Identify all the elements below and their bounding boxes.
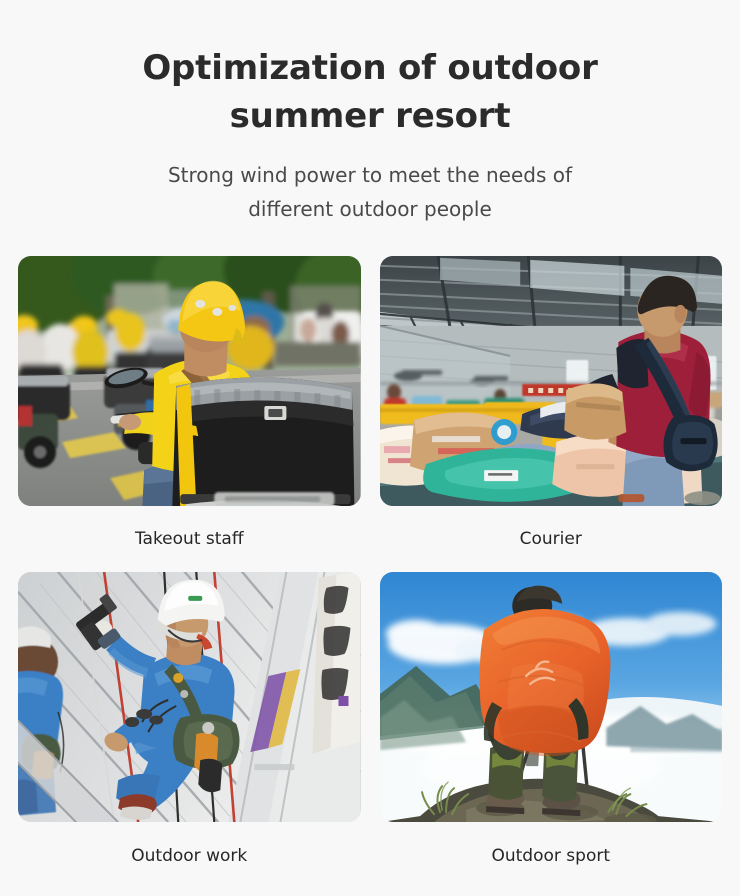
- page-title: Optimization of outdoor summer resort: [135, 44, 605, 140]
- gallery-grid: Takeout staff: [18, 256, 722, 889]
- page-root: Optimization of outdoor summer resort St…: [0, 0, 740, 896]
- header: Optimization of outdoor summer resort St…: [18, 0, 722, 226]
- gallery-item-outdoor-work[interactable]: Outdoor work: [18, 572, 361, 889]
- gallery-caption: Courier: [380, 506, 723, 572]
- gallery-caption: Takeout staff: [18, 506, 361, 572]
- photo-takeout-staff[interactable]: [18, 256, 361, 506]
- photo-outdoor-sport[interactable]: [380, 572, 723, 822]
- gallery-caption: Outdoor sport: [380, 822, 723, 889]
- page-subtitle: Strong wind power to meet the needs of d…: [145, 158, 595, 226]
- photo-outdoor-work[interactable]: [18, 572, 361, 822]
- gallery-caption: Outdoor work: [18, 822, 361, 889]
- gallery-item-takeout-staff[interactable]: Takeout staff: [18, 256, 361, 572]
- gallery-item-outdoor-sport[interactable]: Outdoor sport: [380, 572, 723, 889]
- gallery-item-courier[interactable]: Courier: [380, 256, 723, 572]
- photo-courier[interactable]: [380, 256, 723, 506]
